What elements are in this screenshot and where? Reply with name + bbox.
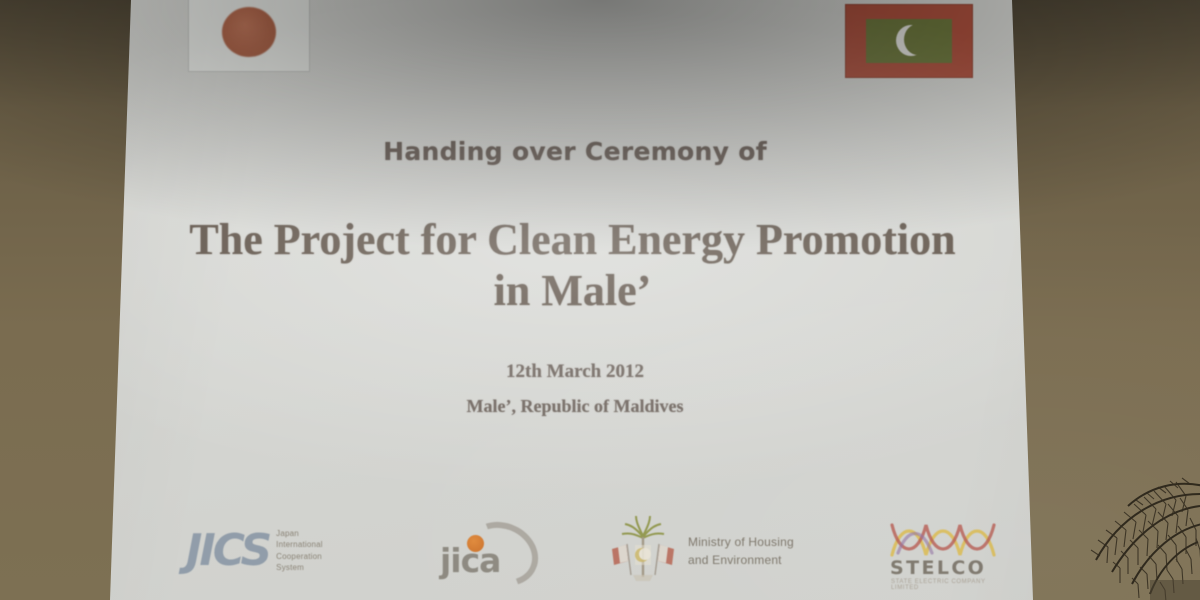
slide-title: The Project for Clean Energy Promotion i… — [0, 214, 1145, 317]
slide-date: 12th March 2012 — [0, 361, 1150, 383]
slide-location: Male’, Republic of Maldives — [0, 396, 1150, 417]
stelco-wave-icon — [888, 517, 1006, 561]
logo-ministry-of-housing-and-environment: Ministry of Housing and Environment — [606, 515, 794, 587]
slide-title-line-2: in Male’ — [0, 265, 1145, 316]
presentation-photo: Handing over Ceremony of The Project for… — [0, 0, 1200, 600]
logo-jica: jica — [432, 521, 552, 583]
jica-wordmark: jica — [440, 544, 500, 577]
slide-title-line-1: The Project for Clean Energy Promotion — [0, 214, 1145, 265]
flag-japan-icon — [188, 0, 310, 72]
logo-stelco: STELCO STATE ELECTRIC COMPANY LIMITED — [888, 517, 1008, 561]
ministry-name: Ministry of Housing and Environment — [688, 533, 794, 569]
maldives-flag-field — [866, 19, 952, 63]
flag-maldives-icon — [845, 4, 973, 78]
jics-subtext-line-4: System — [276, 562, 323, 573]
jics-wordmark: JICS — [186, 529, 269, 573]
jics-subtext: Japan International Cooperation System — [276, 528, 323, 573]
jics-subtext-line-2: International — [276, 539, 323, 550]
slide-kicker: Handing over Ceremony of — [0, 137, 1150, 166]
jics-subtext-line-1: Japan — [276, 528, 323, 539]
ministry-name-line-2: and Environment — [688, 551, 794, 569]
maldives-crescent-cutout — [904, 24, 932, 55]
japan-sun-disc-icon — [222, 7, 276, 57]
logo-jics: JICS Japan International Cooperation Sys… — [186, 528, 323, 573]
stelco-wordmark: STELCO — [890, 559, 986, 578]
ministry-name-line-1: Ministry of Housing — [688, 533, 794, 551]
jics-subtext-line-3: Cooperation — [276, 551, 323, 562]
logo-row: JICS Japan International Cooperation Sys… — [0, 505, 1200, 600]
projected-slide: Handing over Ceremony of The Project for… — [0, 0, 1200, 600]
maldives-state-emblem-icon — [606, 515, 680, 587]
stelco-tagline: STATE ELECTRIC COMPANY LIMITED — [891, 579, 1008, 591]
